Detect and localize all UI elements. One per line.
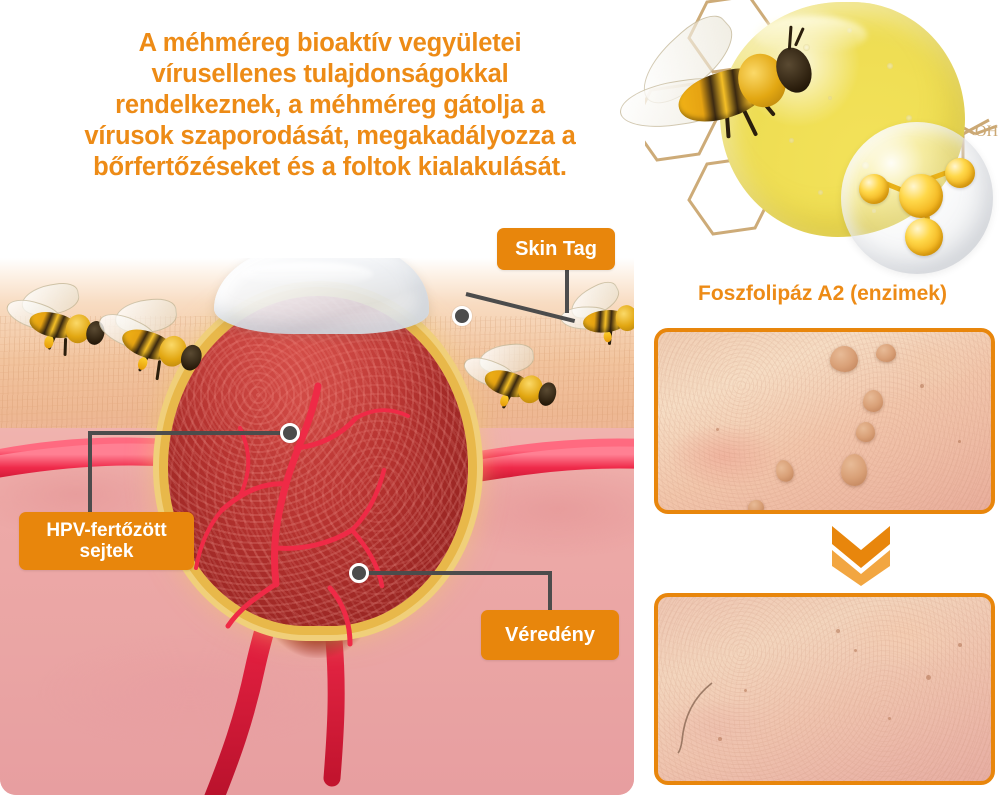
callout-hpv-cells-label: HPV-fertőzött sejtek: [46, 520, 166, 563]
svg-text:OH: OH: [975, 123, 999, 140]
molecule-sphere: [841, 122, 993, 274]
double-chevron-down-icon: [832, 524, 890, 586]
callout-connector-hpv-horizontal: [88, 431, 286, 435]
before-photo: [654, 328, 995, 514]
callout-connector-vessel-vertical: [548, 571, 552, 613]
callout-connector-skin-tag: [565, 268, 569, 313]
hair-strand: [668, 683, 728, 753]
gel-drop: [214, 258, 429, 334]
callout-connector-hpv-vertical: [88, 431, 92, 519]
callout-dot-skin-tag: [452, 306, 472, 326]
callout-connector-vessel-horizontal: [366, 571, 552, 575]
callout-vessel-label: Véredény: [505, 624, 595, 646]
callout-skin-tag-label: Skin Tag: [515, 238, 597, 260]
callout-dot-hpv: [280, 423, 300, 443]
enzyme-title: Foszfolipáz A2 (enzimek): [650, 282, 995, 306]
callout-dot-vessel: [349, 563, 369, 583]
honey-bee-illustration: O H N O OH: [645, 0, 1000, 279]
callout-hpv-cells[interactable]: HPV-fertőzött sejtek: [19, 512, 194, 570]
callout-vessel[interactable]: Véredény: [481, 610, 619, 660]
after-photo: [654, 593, 995, 785]
page-title: A méhméreg bioaktív vegyületei víruselle…: [20, 28, 640, 184]
callout-skin-tag[interactable]: Skin Tag: [497, 228, 615, 270]
